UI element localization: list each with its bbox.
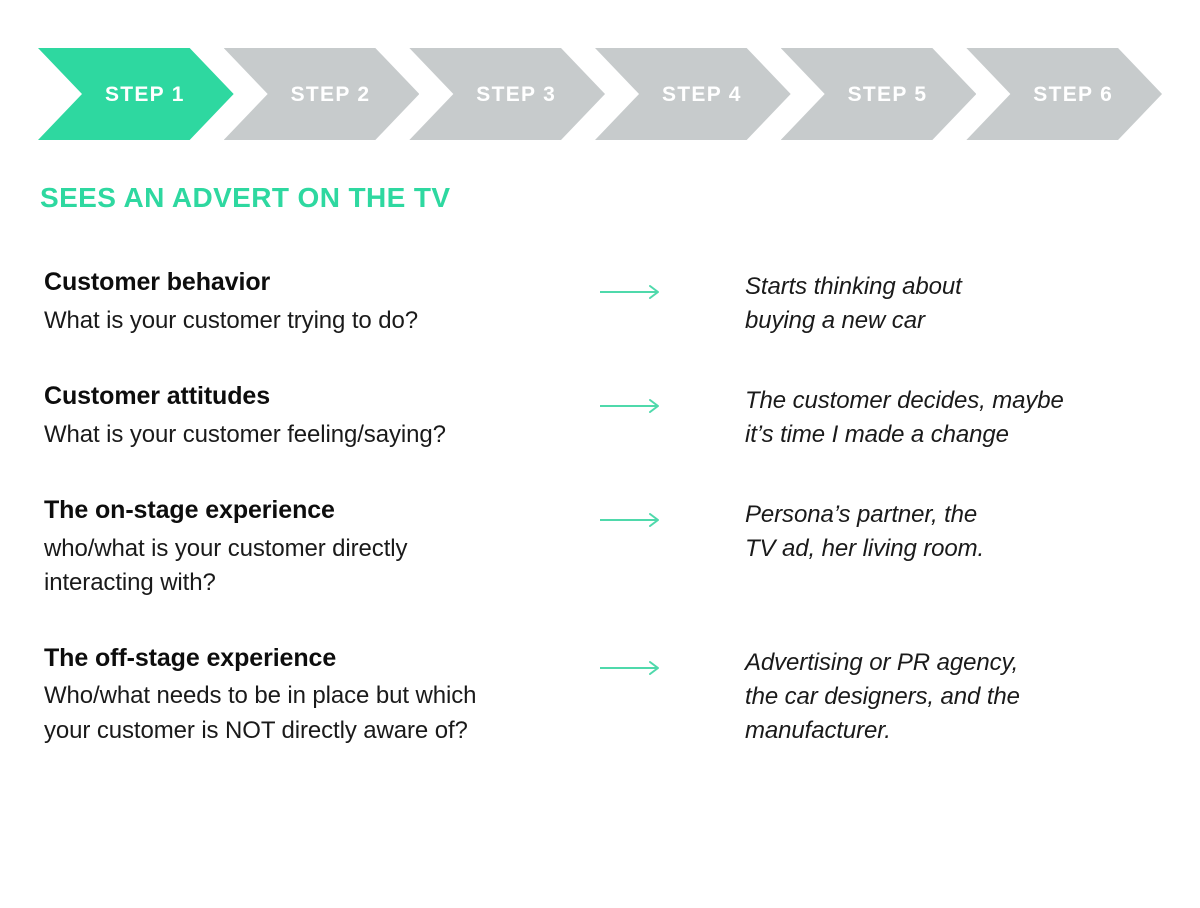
row-arrow xyxy=(600,382,745,414)
row-question-line: What is your customer trying to do? xyxy=(44,304,600,338)
row-left-column: The on-stage experience who/what is your… xyxy=(0,496,600,600)
step-chevron-4[interactable]: STEP 4 xyxy=(595,48,791,140)
content-row: Customer behavior What is your customer … xyxy=(0,268,1200,338)
row-question-line: interacting with? xyxy=(44,566,600,600)
row-answer-line: it’s time I made a change xyxy=(745,418,1200,452)
row-question: Who/what needs to be in place but which … xyxy=(44,679,600,747)
content-row: Customer attitudes What is your customer… xyxy=(0,382,1200,452)
content-row: The on-stage experience who/what is your… xyxy=(0,496,1200,600)
row-answer-line: Advertising or PR agency, xyxy=(745,646,1200,680)
row-answer: Persona’s partner, the TV ad, her living… xyxy=(745,496,1200,566)
content-rows: Customer behavior What is your customer … xyxy=(0,268,1200,792)
row-answer-line: manufacturer. xyxy=(745,714,1200,748)
arrow-right-icon xyxy=(600,284,662,300)
step-label-1: STEP 1 xyxy=(87,84,185,105)
arrow-right-icon xyxy=(600,512,662,528)
step-chevron-3[interactable]: STEP 3 xyxy=(409,48,605,140)
step-chevron-1[interactable]: STEP 1 xyxy=(38,48,234,140)
section-heading: SEES AN ADVERT ON THE TV xyxy=(40,182,450,214)
step-label-2: STEP 2 xyxy=(273,84,371,105)
step-progress-bar: STEP 1 STEP 2 STEP 3 STEP 4 STEP 5 STEP … xyxy=(38,48,1162,140)
row-title: Customer behavior xyxy=(44,268,600,298)
row-answer-line: buying a new car xyxy=(745,304,1200,338)
content-row: The off-stage experience Who/what needs … xyxy=(0,644,1200,748)
row-title: The off-stage experience xyxy=(44,644,600,674)
row-question-line: Who/what needs to be in place but which xyxy=(44,679,600,713)
step-label-5: STEP 5 xyxy=(830,84,928,105)
row-answer: Advertising or PR agency, the car design… xyxy=(745,644,1200,748)
row-left-column: The off-stage experience Who/what needs … xyxy=(0,644,600,748)
step-chevron-5[interactable]: STEP 5 xyxy=(781,48,977,140)
row-left-column: Customer attitudes What is your customer… xyxy=(0,382,600,452)
step-label-3: STEP 3 xyxy=(458,84,556,105)
arrow-right-icon xyxy=(600,398,662,414)
row-question-line: who/what is your customer directly xyxy=(44,532,600,566)
step-chevron-2[interactable]: STEP 2 xyxy=(224,48,420,140)
row-title: Customer attitudes xyxy=(44,382,600,412)
row-question: who/what is your customer directly inter… xyxy=(44,532,600,600)
row-title: The on-stage experience xyxy=(44,496,600,526)
row-question: What is your customer trying to do? xyxy=(44,304,600,338)
row-left-column: Customer behavior What is your customer … xyxy=(0,268,600,338)
row-question: What is your customer feeling/saying? xyxy=(44,418,600,452)
row-arrow xyxy=(600,644,745,676)
step-chevron-6[interactable]: STEP 6 xyxy=(966,48,1162,140)
step-label-4: STEP 4 xyxy=(644,84,742,105)
row-answer: The customer decides, maybe it’s time I … xyxy=(745,382,1200,452)
row-answer-line: Starts thinking about xyxy=(745,270,1200,304)
row-question-line: your customer is NOT directly aware of? xyxy=(44,714,600,748)
row-answer-line: TV ad, her living room. xyxy=(745,532,1200,566)
row-answer-line: The customer decides, maybe xyxy=(745,384,1200,418)
row-question-line: What is your customer feeling/saying? xyxy=(44,418,600,452)
step-label-6: STEP 6 xyxy=(1015,84,1113,105)
row-answer-line: Persona’s partner, the xyxy=(745,498,1200,532)
row-answer-line: the car designers, and the xyxy=(745,680,1200,714)
row-arrow xyxy=(600,268,745,300)
row-answer: Starts thinking about buying a new car xyxy=(745,268,1200,338)
row-arrow xyxy=(600,496,745,528)
arrow-right-icon xyxy=(600,660,662,676)
